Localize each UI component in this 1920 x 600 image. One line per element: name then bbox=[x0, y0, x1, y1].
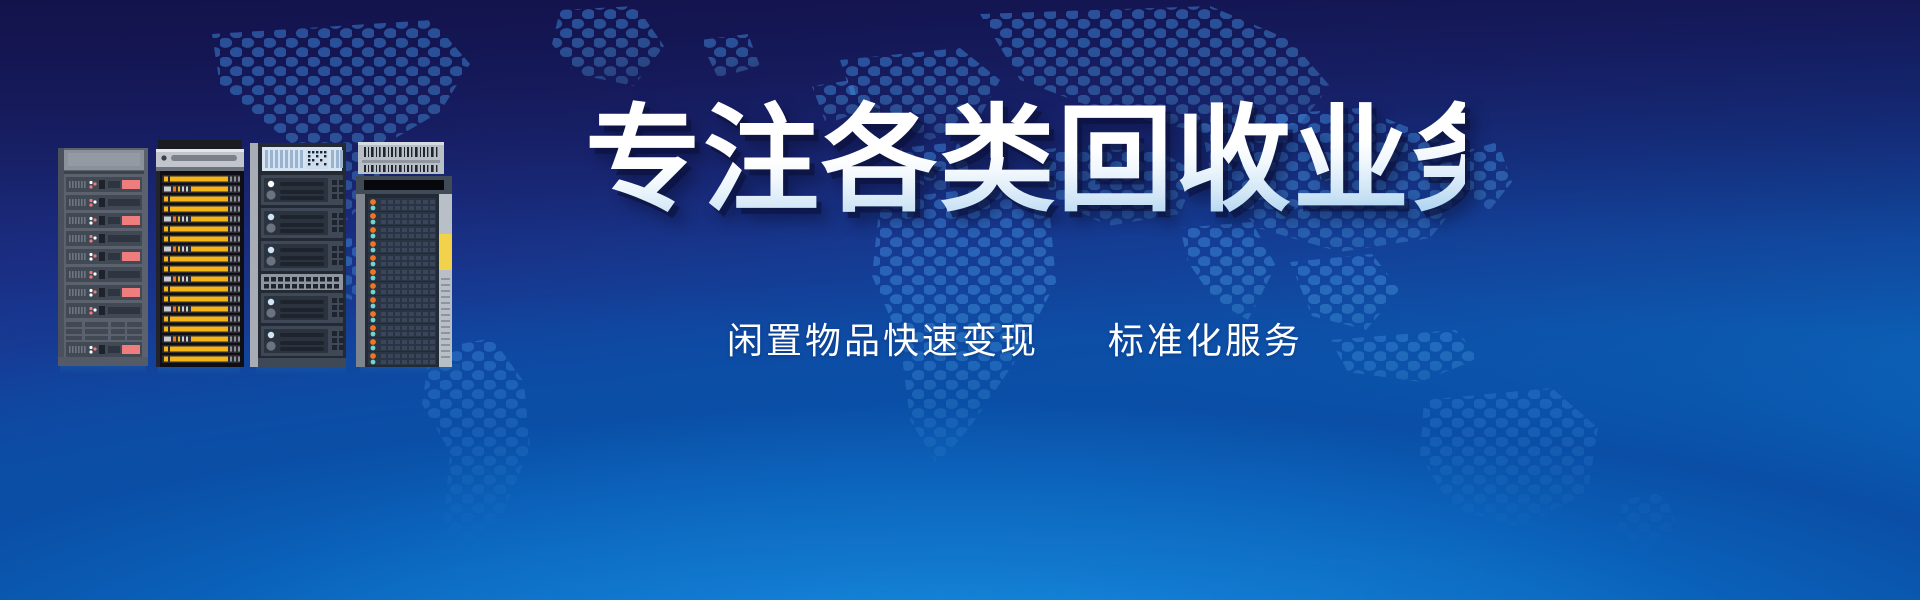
subtitle-part-1: 闲置物品快速变现 bbox=[727, 321, 1039, 362]
banner-subtitle: 闲置物品快速变现 标准化服务 bbox=[727, 312, 1465, 364]
banner-copy: 专注各类回收业务 闲置物品快速变现 标准化服务 bbox=[585, 96, 1465, 364]
rack-1 bbox=[58, 148, 148, 374]
banner-headline: 专注各类回收业务 bbox=[585, 96, 1465, 226]
subtitle-part-2: 标准化服务 bbox=[1108, 321, 1303, 362]
rack-3 bbox=[250, 143, 346, 375]
rack-2 bbox=[156, 140, 244, 375]
hero-banner: 专注各类回收业务 闲置物品快速变现 标准化服务 bbox=[0, 0, 1920, 600]
rack-4 bbox=[356, 142, 460, 375]
server-rack-illustration bbox=[52, 138, 502, 378]
